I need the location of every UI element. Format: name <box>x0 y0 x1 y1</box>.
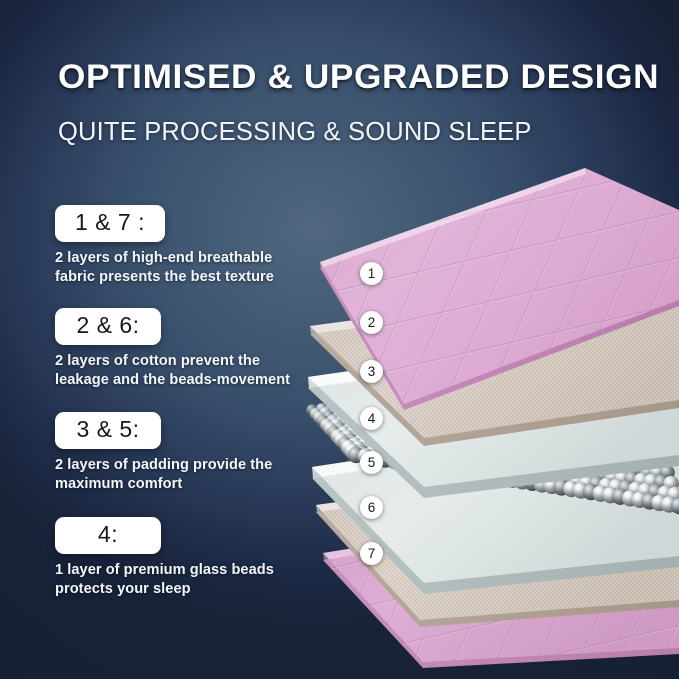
feature-pill-4: 4: <box>55 517 161 554</box>
layer-badge-2: 2 <box>360 311 383 334</box>
feature-block-4: 4: 1 layer of premium glass beads protec… <box>55 517 307 600</box>
layer-badge-3: 3 <box>360 360 383 383</box>
feature-block-3: 3 & 5: 2 layers of padding provide the m… <box>55 412 307 495</box>
layer-badge-5: 5 <box>360 451 383 474</box>
layer-badge-7: 7 <box>360 542 383 565</box>
feature-block-2: 2 & 6: 2 layers of cotton prevent the le… <box>55 308 307 391</box>
layer-badge-6: 6 <box>360 496 383 519</box>
page-subtitle: QUITE PROCESSING & SOUND SLEEP <box>58 118 618 147</box>
feature-pill-3: 3 & 5: <box>55 412 161 449</box>
page-title: OPTIMISED & UPGRADED DESIGN <box>58 58 639 97</box>
feature-pill-2: 2 & 6: <box>55 308 161 345</box>
layer-badge-4: 4 <box>360 407 383 430</box>
feature-pill-label-1: 1 & 7 : <box>75 209 145 235</box>
feature-description-3: 2 layers of padding provide the maximum … <box>55 456 307 495</box>
layer-badge-1: 1 <box>360 262 383 285</box>
feature-pill-1: 1 & 7 : <box>55 205 165 242</box>
feature-pill-label-4: 4: <box>98 521 118 547</box>
product-infographic: OPTIMISED & UPGRADED DESIGN QUITE PROCES… <box>0 0 679 679</box>
feature-description-2: 2 layers of cotton prevent the leakage a… <box>55 352 307 391</box>
feature-description-4: 1 layer of premium glass beads protects … <box>55 561 307 600</box>
feature-pill-label-3: 3 & 5: <box>76 416 139 442</box>
feature-pill-label-2: 2 & 6: <box>76 312 139 338</box>
feature-description-1: 2 layers of high-end breathable fabric p… <box>55 249 307 288</box>
feature-block-1: 1 & 7 : 2 layers of high-end breathable … <box>55 205 307 288</box>
